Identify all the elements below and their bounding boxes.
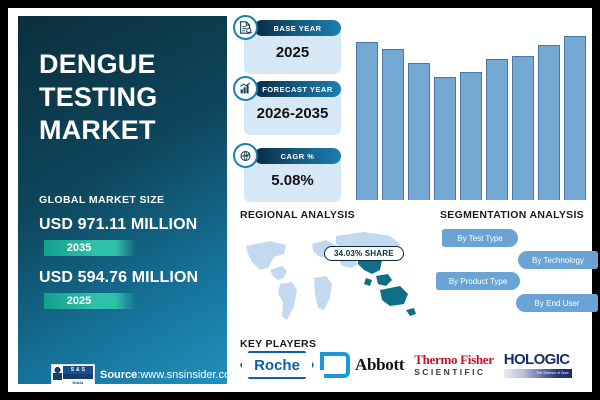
thermo-fisher-label: Thermo Fisher xyxy=(414,353,494,366)
chart-bar xyxy=(512,56,534,200)
chart-bar xyxy=(408,63,430,200)
badge-cagr-value: 5.08% xyxy=(244,172,341,189)
document-report-icon xyxy=(233,15,258,40)
badge-forecast-year: FORECAST YEAR 2026-2035 xyxy=(244,87,341,135)
chart-bar xyxy=(356,42,378,200)
key-players-row: Roche Abbott Thermo Fisher SCIENTIFIC HO… xyxy=(240,348,592,382)
badge-base-year-header: BASE YEAR xyxy=(254,20,341,36)
world-map: 34.03% SHARE xyxy=(240,224,420,332)
chart-bar xyxy=(538,45,560,200)
market-value-2025: USD 594.76 MILLION xyxy=(39,269,198,287)
source-text: Source:www.snsinsider.com xyxy=(100,369,227,381)
abbott-mark-icon xyxy=(324,352,350,378)
map-highlight-asia-pacific xyxy=(358,254,416,316)
badge-cagr-header: CAGR % xyxy=(254,148,341,164)
chart-bar xyxy=(434,77,456,200)
badge-base-year-value: 2025 xyxy=(244,44,341,61)
snsinsider-logo: S & S Strategy & Stats xyxy=(51,364,95,384)
canvas: DENGUE TESTING MARKET GLOBAL MARKET SIZE… xyxy=(8,8,592,392)
badge-cagr: CAGR % 5.08% xyxy=(244,154,341,202)
segment-pill-end-user[interactable]: By End User xyxy=(516,294,598,312)
abbott-label: Abbott xyxy=(355,355,404,375)
roche-label: Roche xyxy=(254,357,300,374)
chart-bar xyxy=(460,72,482,200)
logo-line1: S & S xyxy=(71,367,86,373)
section-label-segmentation-analysis: SEGMENTATION ANALYSIS xyxy=(440,209,584,221)
chart-bar xyxy=(382,49,404,200)
logo-figure-icon xyxy=(53,366,62,384)
segment-pill-test-type[interactable]: By Test Type xyxy=(442,229,518,247)
logo-tagline: Strategy & Stats xyxy=(63,374,93,384)
logo-abbott: Abbott xyxy=(324,352,404,378)
chart-bar xyxy=(486,59,508,200)
thermo-fisher-sublabel: SCIENTIFIC xyxy=(414,368,494,377)
hologic-label: HOLOGIC xyxy=(504,352,572,367)
growth-globe-icon xyxy=(233,143,258,168)
badge-forecast-year-value: 2026-2035 xyxy=(244,105,341,122)
source-url[interactable]: :www.snsinsider.com xyxy=(137,369,227,381)
left-panel: DENGUE TESTING MARKET GLOBAL MARKET SIZE… xyxy=(18,16,227,384)
market-value-2035: USD 971.11 MILLION xyxy=(39,216,197,234)
logo-hologic: HOLOGIC The Science of Sure xyxy=(504,352,572,378)
bar-chart-icon xyxy=(233,76,258,101)
segment-pill-product-type[interactable]: By Product Type xyxy=(436,272,520,290)
chart-bar xyxy=(564,36,586,200)
logo-roche: Roche xyxy=(240,351,314,379)
logo-thermo-fisher: Thermo Fisher SCIENTIFIC xyxy=(414,353,494,377)
bar-chart xyxy=(356,24,596,200)
page-title: DENGUE TESTING MARKET xyxy=(39,48,217,147)
infographic-root: DENGUE TESTING MARKET GLOBAL MARKET SIZE… xyxy=(0,0,600,400)
source-prefix: Source xyxy=(100,369,137,381)
badge-forecast-year-header: FORECAST YEAR xyxy=(254,81,341,97)
source-row: S & S Strategy & Stats Source:www.snsins… xyxy=(51,364,227,384)
year-tag-2025: 2025 xyxy=(44,293,136,309)
global-market-size-label: GLOBAL MARKET SIZE xyxy=(39,194,164,206)
logo-mark: S & S Strategy & Stats xyxy=(63,366,93,384)
badge-base-year: BASE YEAR 2025 xyxy=(244,26,341,74)
segment-pill-technology[interactable]: By Technology xyxy=(518,251,598,269)
map-share-badge: 34.03% SHARE xyxy=(324,246,404,261)
year-tag-2035: 2035 xyxy=(44,240,136,256)
section-label-regional-analysis: REGIONAL ANALYSIS xyxy=(240,209,355,221)
hologic-sublabel: The Science of Sure xyxy=(504,369,572,378)
